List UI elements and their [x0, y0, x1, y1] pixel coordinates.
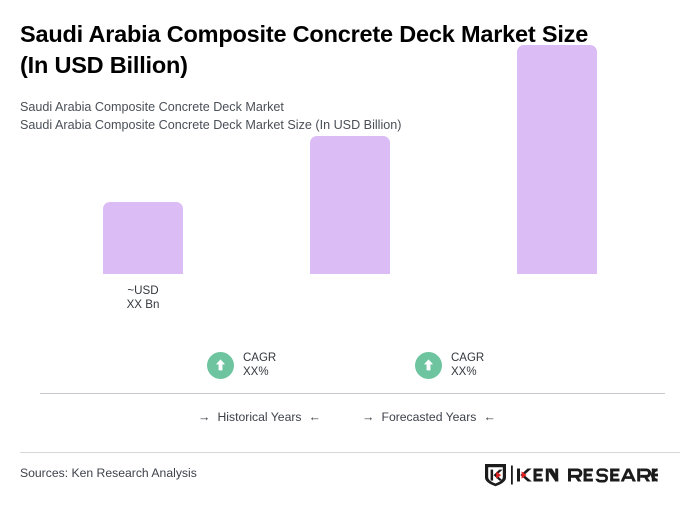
- axis-label-historical-years: → Historical Years ←: [198, 410, 321, 424]
- cagr-value-forecasted: XX%: [451, 365, 484, 379]
- cagr-badge-historical: CAGR XX%: [207, 351, 276, 379]
- chart-page: Saudi Arabia Composite Concrete Deck Mar…: [0, 0, 700, 520]
- footer-divider: [20, 452, 680, 453]
- cagr-value-historical: XX%: [243, 365, 276, 379]
- cagr-title-historical: CAGR: [243, 351, 276, 365]
- cagr-up-arrow-icon: [415, 352, 442, 379]
- bar-value-amount-1: XX Bn: [83, 298, 203, 312]
- bar-historical: [103, 202, 183, 274]
- axis-baseline: [40, 393, 665, 394]
- cagr-badge-forecasted: CAGR XX%: [415, 351, 484, 379]
- arrow-left-icon: ←: [483, 410, 496, 424]
- bar-value-label-1: ~USD XX Bn: [83, 284, 203, 312]
- arrow-right-icon: →: [362, 410, 375, 424]
- cagr-up-arrow-icon: [207, 352, 234, 379]
- cagr-title-forecasted: CAGR: [451, 351, 484, 365]
- chart-plot-area: ~USD XX Bn ~USD 6.8 Bn ~USD XX Bn CAGR X…: [0, 0, 700, 400]
- cagr-text-historical: CAGR XX%: [243, 351, 276, 379]
- bar-value-currency-1: ~USD: [83, 284, 203, 298]
- bar-base-year: [310, 136, 390, 274]
- arrow-right-icon: →: [198, 410, 211, 424]
- cagr-text-forecasted: CAGR XX%: [451, 351, 484, 379]
- forecasted-years-text: Forecasted Years: [382, 410, 477, 424]
- historical-years-text: Historical Years: [218, 410, 302, 424]
- bar-forecast: [517, 45, 597, 274]
- arrow-left-icon: ←: [309, 410, 322, 424]
- sources-text: Sources: Ken Research Analysis: [20, 466, 197, 480]
- ken-research-logo: [482, 463, 658, 487]
- axis-label-forecasted-years: → Forecasted Years ←: [362, 410, 496, 424]
